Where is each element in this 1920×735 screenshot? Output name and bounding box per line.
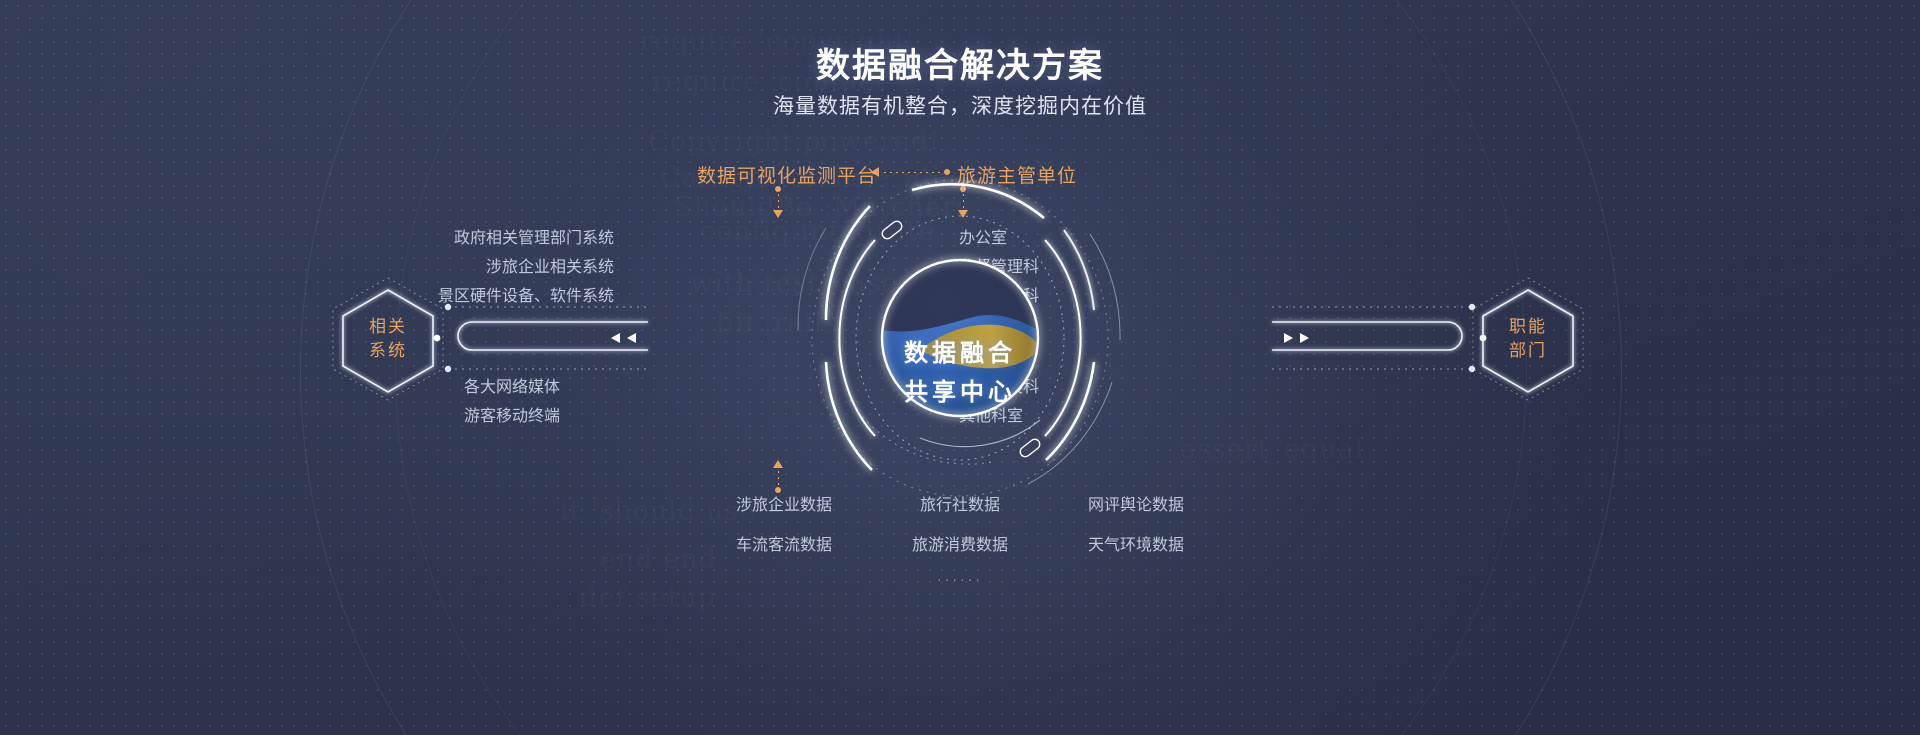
hexagon-label-line1: 相关 xyxy=(369,315,407,339)
hexagon-functional-departments[interactable]: 职能 部门 xyxy=(1470,277,1586,401)
left-source-list-top: 政府相关管理部门系统 涉旅企业相关系统 景区硬件设备、软件系统 xyxy=(438,224,614,311)
list-item: 各大网络媒体 xyxy=(464,373,560,402)
list-item: 游客移动终端 xyxy=(464,402,560,431)
hexagon-label-line2: 部门 xyxy=(1509,339,1547,363)
hexagon-label: 职能 部门 xyxy=(1470,277,1586,401)
infographic-canvas: require 'copyright' require 'contact' Co… xyxy=(0,0,1920,735)
list-item: 涉旅企业相关系统 xyxy=(438,253,614,282)
hexagon-label-line1: 职能 xyxy=(1509,315,1547,339)
left-source-list-bottom: 各大网络媒体 游客移动终端 xyxy=(464,373,560,431)
arc-capsule-marker xyxy=(1018,437,1041,458)
hexagon-related-systems[interactable]: 相关 系统 xyxy=(330,277,446,401)
list-item: 政府相关管理部门系统 xyxy=(438,224,614,253)
hexagon-label: 相关 系统 xyxy=(330,277,446,401)
page-title: 数据融合解决方案 xyxy=(0,38,1920,87)
core-hub-graphic: 数据融合 共享中心 xyxy=(620,170,1300,570)
page-subtitle: 海量数据有机整合，深度挖掘内在价值 xyxy=(0,90,1920,120)
arc-capsule-marker xyxy=(880,219,903,240)
list-item: 景区硬件设备、软件系统 xyxy=(438,282,614,311)
data-ellipsis: ······ xyxy=(560,571,1360,587)
hexagon-label-line2: 系统 xyxy=(369,339,407,363)
